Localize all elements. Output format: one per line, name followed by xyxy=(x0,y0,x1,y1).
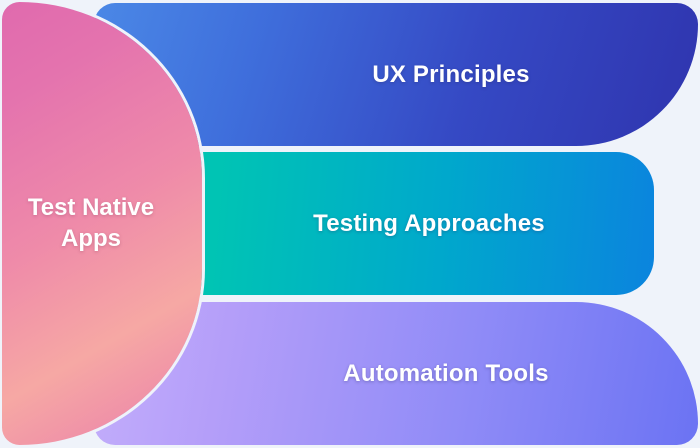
branch-label-automation-tools: Automation Tools xyxy=(343,360,548,388)
radial-branch-diagram: UX Principles Testing Approaches Automat… xyxy=(0,0,700,448)
hub-label-line-1: Test Native xyxy=(28,193,154,224)
branch-label-testing-approaches: Testing Approaches xyxy=(313,210,545,238)
hub-label: Test Native Apps xyxy=(28,193,176,254)
hub-label-line-2: Apps xyxy=(28,224,154,255)
branch-label-ux-principles: UX Principles xyxy=(372,61,529,89)
